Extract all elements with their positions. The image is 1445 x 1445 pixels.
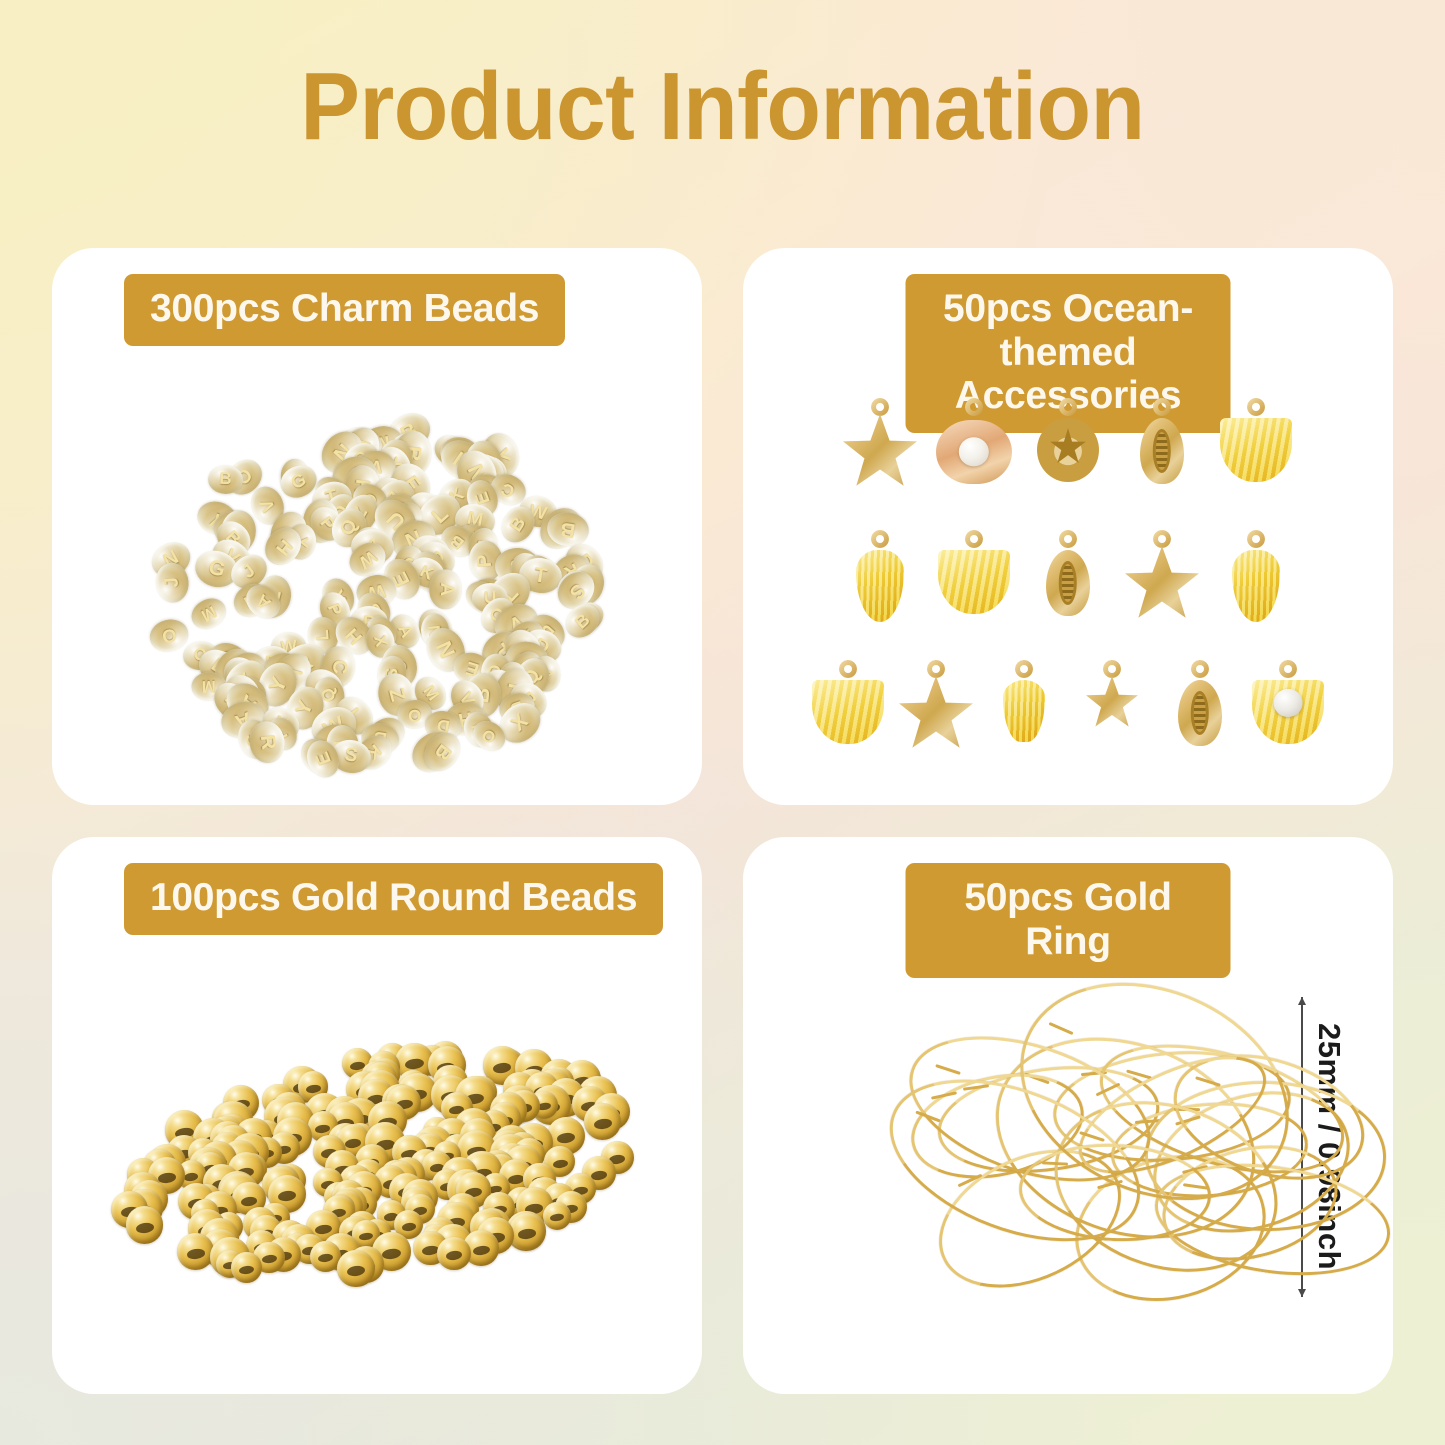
conch-shell-charm (841, 530, 919, 634)
pearl-oyster-charm-body (936, 420, 1012, 484)
cowrie-shell-charm-body (1140, 418, 1184, 484)
starfish-charm-body (843, 414, 917, 488)
starfish-charm (1123, 530, 1201, 634)
pearl (1274, 689, 1303, 717)
sand-dollar-charm-body (1037, 418, 1099, 482)
cone-shell-charm (985, 660, 1063, 764)
charm-row (743, 398, 1393, 502)
charm-bail-icon (965, 530, 983, 548)
gold-round-bead (584, 1103, 621, 1140)
ocean-charms-photo (743, 398, 1393, 788)
sand-dollar-charm (1029, 398, 1107, 502)
cone-shell-charm-body (1003, 680, 1045, 742)
scallop-shell-charm (809, 660, 887, 764)
charm-row (743, 530, 1393, 634)
scallop-shell-charm-body (812, 680, 884, 744)
badge-gold-round-beads: 100pcs Gold Round Beads (124, 863, 663, 935)
small-starfish-charm (1073, 660, 1151, 764)
charm-bail-icon (1059, 398, 1077, 416)
badge-gold-ring: 50pcs Gold Ring (906, 863, 1231, 978)
charm-bail-icon (1015, 660, 1033, 678)
gold-round-bead (437, 1237, 470, 1270)
cowrie-shell-charm (1123, 398, 1201, 502)
gold-round-beads-photo (52, 987, 702, 1347)
charm-bail-icon (1279, 660, 1297, 678)
cowrie-shell-charm (1029, 530, 1107, 634)
gold-round-bead (509, 1213, 546, 1250)
charm-bail-icon (1247, 530, 1265, 548)
scallop-shell-charm (935, 530, 1013, 634)
gold-rings-photo (743, 987, 1393, 1317)
charm-beads-photo: BMQZBPVBNABYOLHAXVDWNPDOBGFRJCBKSTEJOVAS… (52, 396, 702, 796)
charm-bail-icon (839, 660, 857, 678)
cowrie-slit (1191, 691, 1209, 736)
gold-round-bead (337, 1250, 375, 1288)
charm-bail-icon (927, 660, 945, 678)
charm-bail-icon (871, 530, 889, 548)
page-title: Product Information (51, 52, 1395, 162)
panel-gold-ring: 50pcs Gold Ring 25mm / 0.98inch (743, 837, 1393, 1394)
small-starfish-charm-body (1086, 676, 1138, 728)
gold-round-bead (177, 1233, 214, 1270)
charm-bail-icon (1191, 660, 1209, 678)
gold-round-bead (231, 1252, 263, 1284)
panel-charm-beads: 300pcs Charm Beads BMQZBPVBNABYOLHAXVDWN… (52, 248, 702, 805)
pearl-oyster-charm (935, 398, 1013, 502)
panel-ocean-accessories: 50pcs Ocean-themed Accessories (743, 248, 1393, 805)
gold-round-bead (126, 1206, 164, 1244)
charm-bail-icon (1059, 530, 1077, 548)
panel-gold-round-beads: 100pcs Gold Round Beads (52, 837, 702, 1394)
charm-row (743, 660, 1393, 764)
starfish-charm-body (1125, 546, 1199, 620)
starfish-charm (897, 660, 975, 764)
cowrie-slit (1059, 561, 1077, 606)
starfish-charm-body (899, 676, 973, 750)
conch-shell-charm-body (856, 550, 904, 622)
badge-charm-beads: 300pcs Charm Beads (124, 274, 565, 346)
gold-round-bead (543, 1202, 571, 1230)
pearl (959, 437, 989, 466)
charm-bail-icon (1153, 530, 1171, 548)
cowrie-slit (1153, 429, 1171, 474)
scallop-shell-charm-body (938, 550, 1010, 614)
charm-bail-icon (965, 398, 983, 416)
scallop-shell-charm (1217, 398, 1295, 502)
charm-bail-icon (1247, 398, 1265, 416)
letter-bead: M (186, 593, 231, 636)
scallop-shell-charm-body (1220, 418, 1292, 482)
sand-dollar-star (1049, 428, 1086, 466)
whelk-shell-charm (1217, 530, 1295, 634)
pearl-scallop-charm-body (1252, 680, 1324, 744)
starfish-charm (841, 398, 919, 502)
charm-bail-icon (1153, 398, 1171, 416)
product-panel-grid: 300pcs Charm Beads BMQZBPVBNABYOLHAXVDWN… (52, 248, 1393, 1394)
charm-bail-icon (1103, 660, 1121, 678)
cowrie-shell-charm-body (1046, 550, 1090, 616)
whelk-shell-charm-body (1232, 550, 1280, 622)
charm-bail-icon (871, 398, 889, 416)
cowrie-shell-charm-body (1178, 680, 1222, 746)
pearl-scallop-charm (1249, 660, 1327, 764)
letter-bead: A (430, 569, 463, 609)
cowrie-shell-charm (1161, 660, 1239, 764)
